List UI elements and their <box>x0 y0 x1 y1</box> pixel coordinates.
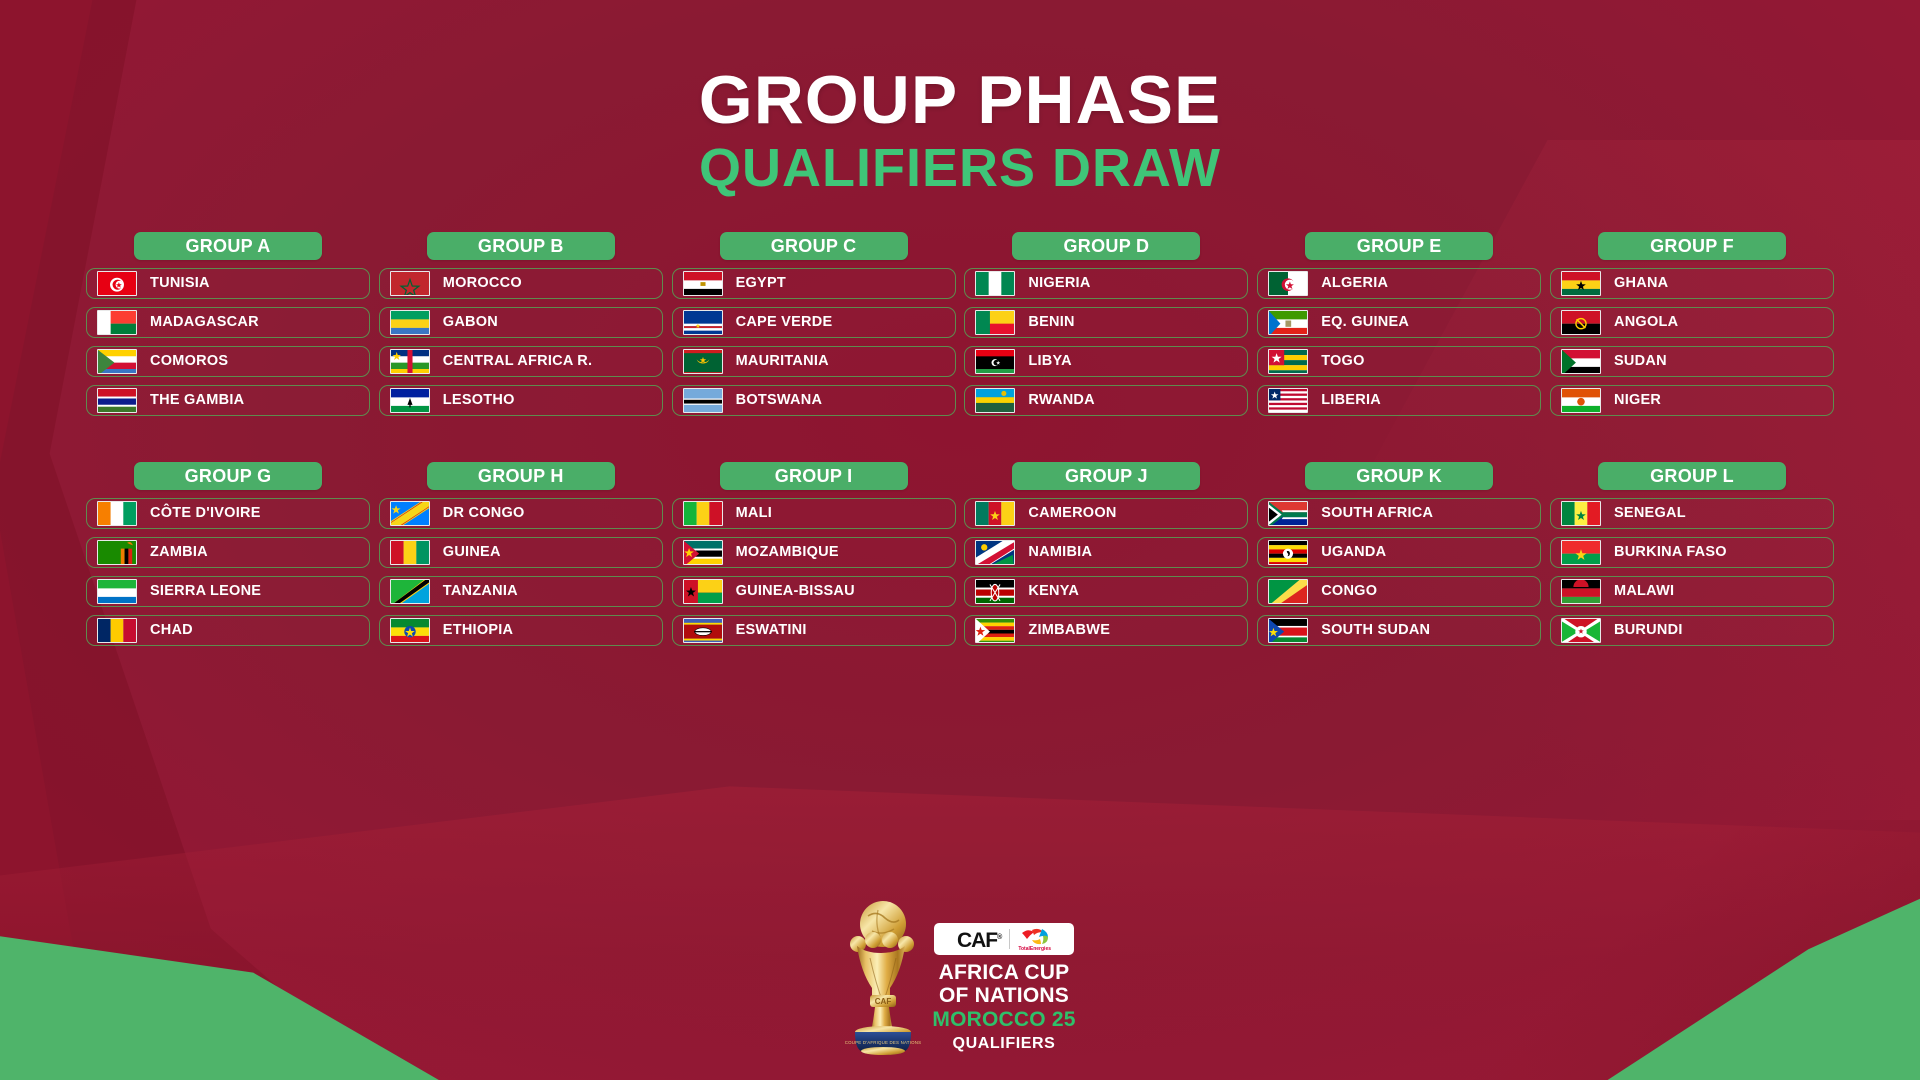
team-name: NIGERIA <box>1028 276 1090 291</box>
zambia-flag <box>97 540 137 565</box>
team-row[interactable]: EQ. GUINEA <box>1257 307 1541 338</box>
group-header-label: GROUP F <box>1650 237 1734 255</box>
botswana-flag <box>683 388 723 413</box>
team-row[interactable]: MAURITANIA <box>672 346 956 377</box>
team-row[interactable]: GABON <box>379 307 663 338</box>
team-name: MALAWI <box>1614 584 1674 599</box>
team-row[interactable]: CAPE VERDE <box>672 307 956 338</box>
dr-congo-flag <box>390 501 430 526</box>
algeria-flag <box>1268 271 1308 296</box>
group-header-label: GROUP L <box>1650 467 1734 485</box>
team-name: TOGO <box>1321 354 1364 369</box>
ivory-coast-flag <box>97 501 137 526</box>
sudan-flag <box>1561 349 1601 374</box>
angola-flag <box>1561 310 1601 335</box>
team-name: MALI <box>736 506 772 521</box>
groups-row-bottom: GROUP GCÔTE D'IVOIREZAMBIASIERRA LEONECH… <box>86 462 1834 646</box>
team-row[interactable]: CONGO <box>1257 576 1541 607</box>
group-header-label: GROUP I <box>775 467 853 485</box>
burundi-flag <box>1561 618 1601 643</box>
group-column: GROUP JCAMEROONNAMIBIAKENYAZIMBABWE <box>964 462 1248 646</box>
team-name: GUINEA <box>443 545 501 560</box>
team-row[interactable]: SOUTH SUDAN <box>1257 615 1541 646</box>
uganda-flag <box>1268 540 1308 565</box>
gabon-flag <box>390 310 430 335</box>
team-name: SOUTH SUDAN <box>1321 623 1430 638</box>
team-name: SUDAN <box>1614 354 1667 369</box>
guinea-bissau-flag <box>683 579 723 604</box>
caf-totalenergies-lockup: CAF® TotalEnergies <box>934 923 1074 955</box>
team-row[interactable]: EGYPT <box>672 268 956 299</box>
central-african-republic-flag <box>390 349 430 374</box>
team-row[interactable]: MALI <box>672 498 956 529</box>
competition-line-2: OF NATIONS <box>939 984 1069 1007</box>
group-column: GROUP HDR CONGOGUINEATANZANIAETHIOPIA <box>379 462 663 646</box>
niger-flag <box>1561 388 1601 413</box>
equatorial-guinea-flag <box>1268 310 1308 335</box>
madagascar-flag <box>97 310 137 335</box>
title-line-1: GROUP PHASE <box>0 64 1920 136</box>
totalenergies-wordmark: TotalEnergies <box>1018 946 1051 952</box>
group-header: GROUP F <box>1598 232 1786 260</box>
group-header-label: GROUP A <box>185 237 270 255</box>
libya-flag <box>975 349 1015 374</box>
comoros-flag <box>97 349 137 374</box>
tanzania-flag <box>390 579 430 604</box>
group-header-label: GROUP D <box>1064 237 1150 255</box>
congo-flag <box>1268 579 1308 604</box>
team-name: GUINEA-BISSAU <box>736 584 855 599</box>
svg-text:COUPE D'AFRIQUE DES NATIONS: COUPE D'AFRIQUE DES NATIONS <box>845 1040 921 1045</box>
team-name: MAURITANIA <box>736 354 829 369</box>
team-row[interactable]: CAMEROON <box>964 498 1248 529</box>
team-row[interactable]: NIGER <box>1550 385 1834 416</box>
group-header: GROUP E <box>1305 232 1493 260</box>
page-title: GROUP PHASE QUALIFIERS DRAW <box>0 64 1920 198</box>
team-row[interactable]: THE GAMBIA <box>86 385 370 416</box>
eswatini-flag <box>683 618 723 643</box>
group-header: GROUP J <box>1012 462 1200 490</box>
group-header-label: GROUP G <box>185 467 272 485</box>
cape-verde-flag <box>683 310 723 335</box>
team-row[interactable]: CÔTE D'IVOIRE <box>86 498 370 529</box>
team-row[interactable]: NIGERIA <box>964 268 1248 299</box>
group-column: GROUP DNIGERIABENINLIBYARWANDA <box>964 232 1248 416</box>
team-row[interactable]: GUINEA <box>379 537 663 568</box>
team-name: MADAGASCAR <box>150 315 259 330</box>
team-name: EGYPT <box>736 276 786 291</box>
team-name: ZIMBABWE <box>1028 623 1110 638</box>
group-column: GROUP KSOUTH AFRICAUGANDACONGOSOUTH SUDA… <box>1257 462 1541 646</box>
team-name: TUNISIA <box>150 276 210 291</box>
team-row[interactable]: BOTSWANA <box>672 385 956 416</box>
tunisia-flag <box>97 271 137 296</box>
mozambique-flag <box>683 540 723 565</box>
team-name: CENTRAL AFRICA R. <box>443 354 593 369</box>
group-column: GROUP FGHANAANGOLASUDANNIGER <box>1550 232 1834 416</box>
cameroon-flag <box>975 501 1015 526</box>
team-name: UGANDA <box>1321 545 1386 560</box>
sierra-leone-flag <box>97 579 137 604</box>
team-name: EQ. GUINEA <box>1321 315 1409 330</box>
morocco-flag <box>390 271 430 296</box>
team-row[interactable]: ETHIOPIA <box>379 615 663 646</box>
team-row[interactable]: CHAD <box>86 615 370 646</box>
team-row[interactable]: BENIN <box>964 307 1248 338</box>
team-row[interactable]: LESOTHO <box>379 385 663 416</box>
competition-line-1: AFRICA CUP <box>939 961 1070 984</box>
team-name: GHANA <box>1614 276 1668 291</box>
team-name: KENYA <box>1028 584 1079 599</box>
caf-wordmark: CAF® <box>957 927 1001 951</box>
team-row[interactable]: MOROCCO <box>379 268 663 299</box>
group-header-label: GROUP C <box>771 237 857 255</box>
team-name: CONGO <box>1321 584 1377 599</box>
event-logo: CAF COUPE D'AFRIQUE DES NATIONS CAF® <box>0 898 1920 1058</box>
team-row[interactable]: MALAWI <box>1550 576 1834 607</box>
team-row[interactable]: BURUNDI <box>1550 615 1834 646</box>
team-row[interactable]: COMOROS <box>86 346 370 377</box>
team-row[interactable]: CENTRAL AFRICA R. <box>379 346 663 377</box>
team-name: CÔTE D'IVOIRE <box>150 506 261 521</box>
rwanda-flag <box>975 388 1015 413</box>
kenya-flag <box>975 579 1015 604</box>
team-row[interactable]: BURKINA FASO <box>1550 537 1834 568</box>
group-column: GROUP GCÔTE D'IVOIREZAMBIASIERRA LEONECH… <box>86 462 370 646</box>
groups-row-top: GROUP ATUNISIAMADAGASCARCOMOROSTHE GAMBI… <box>86 232 1834 416</box>
group-column: GROUP ATUNISIAMADAGASCARCOMOROSTHE GAMBI… <box>86 232 370 416</box>
team-row[interactable]: GUINEA-BISSAU <box>672 576 956 607</box>
team-name: BURUNDI <box>1614 623 1683 638</box>
title-line-2: QUALIFIERS DRAW <box>0 138 1920 198</box>
team-row[interactable]: LIBERIA <box>1257 385 1541 416</box>
team-row[interactable]: TUNISIA <box>86 268 370 299</box>
groups-grid: GROUP ATUNISIAMADAGASCARCOMOROSTHE GAMBI… <box>86 232 1834 646</box>
team-row[interactable]: ZIMBABWE <box>964 615 1248 646</box>
team-row[interactable]: MOZAMBIQUE <box>672 537 956 568</box>
zimbabwe-flag <box>975 618 1015 643</box>
benin-flag <box>975 310 1015 335</box>
egypt-flag <box>683 271 723 296</box>
team-name: BOTSWANA <box>736 393 823 408</box>
svg-text:CAF: CAF <box>875 997 892 1006</box>
nigeria-flag <box>975 271 1015 296</box>
group-header: GROUP B <box>427 232 615 260</box>
team-row[interactable]: RWANDA <box>964 385 1248 416</box>
team-name: NIGER <box>1614 393 1661 408</box>
group-header: GROUP L <box>1598 462 1786 490</box>
registered-mark: ® <box>997 934 1001 941</box>
team-row[interactable]: KENYA <box>964 576 1248 607</box>
logo-divider <box>1009 929 1010 949</box>
totalenergies-icon <box>1020 927 1050 945</box>
team-row[interactable]: SIERRA LEONE <box>86 576 370 607</box>
namibia-flag <box>975 540 1015 565</box>
team-name: ETHIOPIA <box>443 623 513 638</box>
group-header-label: GROUP H <box>478 467 564 485</box>
team-row[interactable]: DR CONGO <box>379 498 663 529</box>
competition-stage: QUALIFIERS <box>953 1034 1056 1054</box>
mauritania-flag <box>683 349 723 374</box>
team-name: LESOTHO <box>443 393 515 408</box>
group-header-label: GROUP E <box>1357 237 1442 255</box>
liberia-flag <box>1268 388 1308 413</box>
caf-label: CAF <box>957 929 997 952</box>
group-header-label: GROUP B <box>478 237 564 255</box>
group-header-label: GROUP J <box>1065 467 1148 485</box>
team-name: CAPE VERDE <box>736 315 833 330</box>
team-name: BURKINA FASO <box>1614 545 1727 560</box>
group-column: GROUP EALGERIAEQ. GUINEATOGOLIBERIA <box>1257 232 1541 416</box>
south-africa-flag <box>1268 501 1308 526</box>
ghana-flag <box>1561 271 1601 296</box>
team-row[interactable]: NAMIBIA <box>964 537 1248 568</box>
team-name: THE GAMBIA <box>150 393 244 408</box>
team-name: ESWATINI <box>736 623 807 638</box>
team-name: GABON <box>443 315 498 330</box>
team-row[interactable]: LIBYA <box>964 346 1248 377</box>
team-name: SIERRA LEONE <box>150 584 261 599</box>
burkina-faso-flag <box>1561 540 1601 565</box>
team-row[interactable]: ZAMBIA <box>86 537 370 568</box>
team-row[interactable]: MADAGASCAR <box>86 307 370 338</box>
south-sudan-flag <box>1268 618 1308 643</box>
team-name: ANGOLA <box>1614 315 1678 330</box>
team-name: ZAMBIA <box>150 545 208 560</box>
group-column: GROUP IMALIMOZAMBIQUEGUINEA-BISSAUESWATI… <box>672 462 956 646</box>
team-row[interactable]: ANGOLA <box>1550 307 1834 338</box>
team-row[interactable]: TOGO <box>1257 346 1541 377</box>
team-name: MOZAMBIQUE <box>736 545 839 560</box>
team-row[interactable]: UGANDA <box>1257 537 1541 568</box>
guinea-flag <box>390 540 430 565</box>
chad-flag <box>97 618 137 643</box>
team-row[interactable]: GHANA <box>1550 268 1834 299</box>
group-header-label: GROUP K <box>1356 467 1442 485</box>
group-header: GROUP G <box>134 462 322 490</box>
team-row[interactable]: ALGERIA <box>1257 268 1541 299</box>
senegal-flag <box>1561 501 1601 526</box>
team-name: COMOROS <box>150 354 228 369</box>
gambia-flag <box>97 388 137 413</box>
team-row[interactable]: SENEGAL <box>1550 498 1834 529</box>
team-row[interactable]: ESWATINI <box>672 615 956 646</box>
team-name: RWANDA <box>1028 393 1094 408</box>
lesotho-flag <box>390 388 430 413</box>
team-name: MOROCCO <box>443 276 522 291</box>
team-row[interactable]: TANZANIA <box>379 576 663 607</box>
team-name: CAMEROON <box>1028 506 1116 521</box>
team-name: SOUTH AFRICA <box>1321 506 1433 521</box>
team-name: DR CONGO <box>443 506 525 521</box>
ethiopia-flag <box>390 618 430 643</box>
team-row[interactable]: SOUTH AFRICA <box>1257 498 1541 529</box>
group-column: GROUP BMOROCCOGABONCENTRAL AFRICA R.LESO… <box>379 232 663 416</box>
group-header: GROUP C <box>720 232 908 260</box>
afcon-trophy-icon: CAF COUPE D'AFRIQUE DES NATIONS <box>844 898 922 1058</box>
event-logo-text: CAF® TotalEnergies AFRICA CUP OF NATIONS… <box>932 923 1075 1058</box>
group-header: GROUP D <box>1012 232 1200 260</box>
team-name: LIBERIA <box>1321 393 1381 408</box>
group-header: GROUP A <box>134 232 322 260</box>
team-name: BENIN <box>1028 315 1074 330</box>
competition-edition: MOROCCO 25 <box>932 1007 1075 1032</box>
team-row[interactable]: SUDAN <box>1550 346 1834 377</box>
team-name: NAMIBIA <box>1028 545 1092 560</box>
togo-flag <box>1268 349 1308 374</box>
totalenergies-logo: TotalEnergies <box>1018 927 1051 952</box>
group-column: GROUP CEGYPTCAPE VERDEMAURITANIABOTSWANA <box>672 232 956 416</box>
group-header: GROUP I <box>720 462 908 490</box>
team-name: SENEGAL <box>1614 506 1686 521</box>
team-name: TANZANIA <box>443 584 518 599</box>
group-header: GROUP K <box>1305 462 1493 490</box>
team-name: ALGERIA <box>1321 276 1388 291</box>
mali-flag <box>683 501 723 526</box>
malawi-flag <box>1561 579 1601 604</box>
team-name: CHAD <box>150 623 193 638</box>
team-name: LIBYA <box>1028 354 1071 369</box>
group-column: GROUP LSENEGALBURKINA FASOMALAWIBURUNDI <box>1550 462 1834 646</box>
group-header: GROUP H <box>427 462 615 490</box>
